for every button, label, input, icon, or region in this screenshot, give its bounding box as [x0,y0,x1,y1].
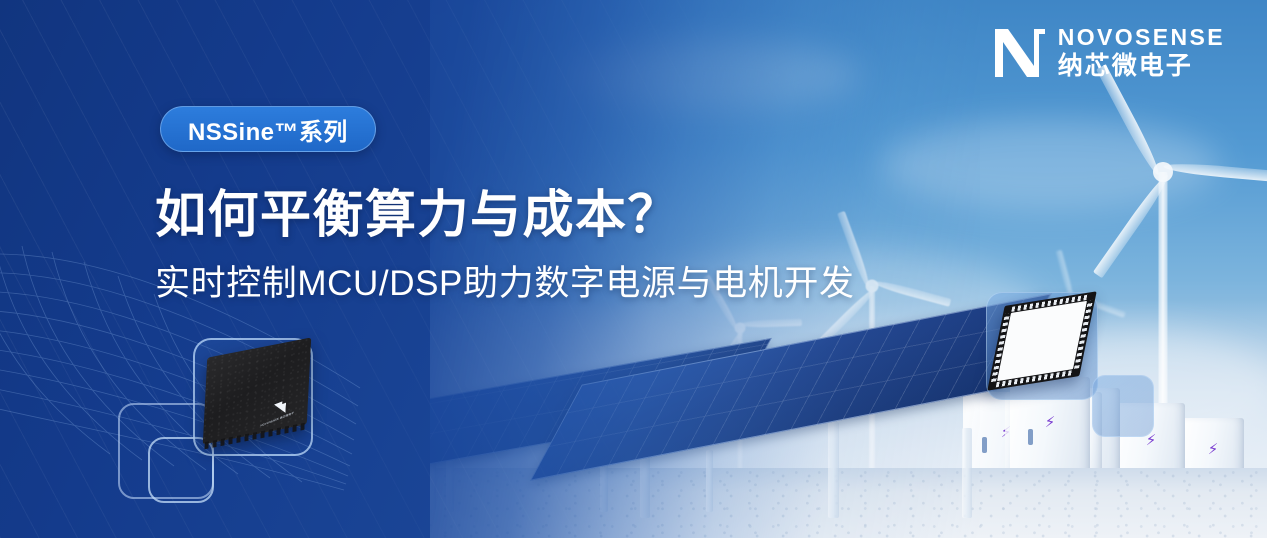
subheadline: 实时控制MCU/DSP助力数字电源与电机开发 [155,255,855,306]
series-badge-label: NSSine™系列 [188,112,348,147]
turbine-hub [1153,162,1173,182]
promo-banner: ⚡ ⚡ ⚡ ⚡ ⚡ [0,0,1267,538]
lightning-bolt-icon: ⚡ [1208,442,1219,457]
cabinet-handle [1028,429,1033,445]
headline: 如何平衡算力与成本？ [155,173,680,247]
series-badge[interactable]: NSSine™系列 [160,106,376,152]
chip-left-logo-text: NOVOSENSE 纳芯微电子 [257,410,298,429]
cabinet-handle [982,437,987,453]
logo-english-text: NOVOSENSE [1058,26,1225,49]
logo-wordmark: NOVOSENSE 纳芯微电子 [1058,26,1225,79]
logo-chinese-text: 纳芯微电子 [1058,54,1225,79]
brand-logo[interactable]: NOVOSENSE 纳芯微电子 [994,26,1225,79]
novosense-n-mark-icon [994,28,1046,78]
lightning-bolt-icon: ⚡ [1045,415,1056,430]
chip-right-tile-small [1092,375,1154,437]
chip-left-logo: NOVOSENSE 纳芯微电子 [257,395,298,429]
chip-die-surface [997,301,1087,381]
